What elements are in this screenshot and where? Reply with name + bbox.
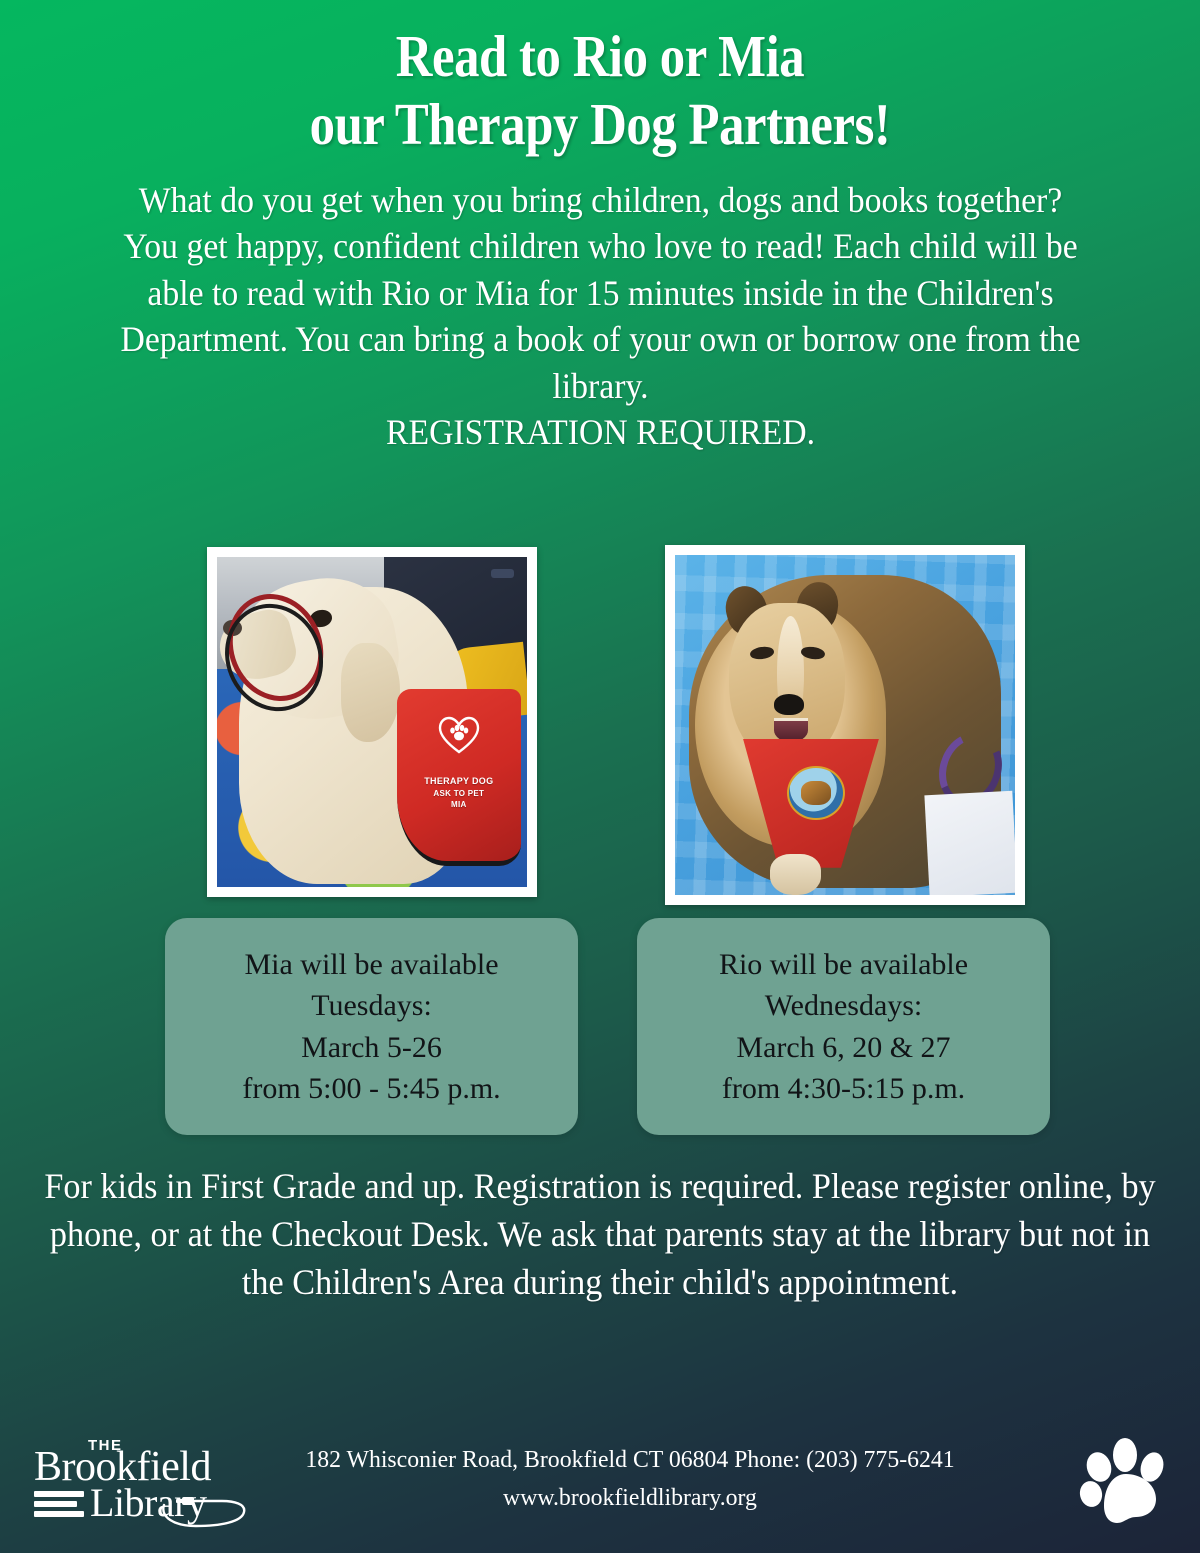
schedule-mia-line-4: from 5:00 - 5:45 p.m. — [242, 1068, 500, 1109]
schedule-mia-line-2: Tuesdays: — [311, 985, 432, 1026]
rio-paper-sheet — [924, 791, 1015, 895]
title-line-1: Read to Rio or Mia — [84, 22, 1116, 90]
schedule-rio-line-1: Rio will be available — [719, 944, 968, 985]
mia-vest-line-1: THERAPY DOG — [397, 775, 521, 788]
paw-print-icon — [1078, 1437, 1174, 1529]
schedule-box-mia: Mia will be available Tuesdays: March 5-… — [165, 918, 578, 1135]
photo-row: THERAPY DOG ASK TO PET MIA — [0, 545, 1200, 900]
schedule-mia-line-3: March 5-26 — [301, 1027, 442, 1068]
rio-badge-emblem — [801, 781, 831, 805]
footer-website-link[interactable]: www.brookfieldlibrary.org — [227, 1479, 1032, 1517]
mia-adult-badge — [491, 569, 514, 578]
photo-frame-rio — [665, 545, 1025, 905]
rio-therapy-badge-icon — [787, 766, 845, 820]
mia-therapy-vest: THERAPY DOG ASK TO PET MIA — [397, 689, 521, 866]
schedule-rio-line-3: March 6, 20 & 27 — [736, 1027, 950, 1068]
mia-vest-text: THERAPY DOG ASK TO PET MIA — [397, 775, 521, 811]
footer-address-line: 182 Whisconier Road, Brookfield CT 06804… — [227, 1441, 1032, 1479]
poster-title: Read to Rio or Mia our Therapy Dog Partn… — [0, 0, 1200, 159]
photo-frame-mia: THERAPY DOG ASK TO PET MIA — [207, 547, 537, 897]
title-line-2: our Therapy Dog Partners! — [84, 90, 1116, 158]
rio-dog-nose — [774, 694, 805, 714]
poster-footer: THE Brookfield Library 182 Whisconier Ro… — [0, 1423, 1200, 1553]
heart-paw-icon — [438, 716, 480, 754]
schedule-box-rio: Rio will be available Wednesdays: March … — [637, 918, 1050, 1135]
schedule-mia-line-1: Mia will be available — [244, 944, 498, 985]
registration-required-note: REGISTRATION REQUIRED. — [108, 409, 1091, 456]
rio-front-paw — [770, 854, 821, 895]
intro-body: What do you get when you bring children,… — [120, 180, 1080, 406]
schedule-rio-line-4: from 4:30-5:15 p.m. — [722, 1068, 965, 1109]
photo-rio — [675, 555, 1015, 895]
mia-vest-line-2: ASK TO PET — [397, 788, 521, 800]
intro-paragraph: What do you get when you bring children,… — [108, 177, 1091, 456]
poster-canvas: Read to Rio or Mia our Therapy Dog Partn… — [0, 0, 1200, 1553]
photo-mia: THERAPY DOG ASK TO PET MIA — [217, 557, 527, 887]
mia-vest-line-3: MIA — [397, 799, 521, 811]
brookfield-library-logo: THE Brookfield Library — [28, 1435, 233, 1530]
registration-details-paragraph: For kids in First Grade and up. Registra… — [30, 1163, 1170, 1307]
schedule-rio-line-2: Wednesdays: — [765, 985, 923, 1026]
stacked-books-icon — [34, 1491, 84, 1521]
footer-contact-info: 182 Whisconier Road, Brookfield CT 06804… — [227, 1441, 1032, 1517]
rio-dog-mouth — [774, 718, 808, 741]
